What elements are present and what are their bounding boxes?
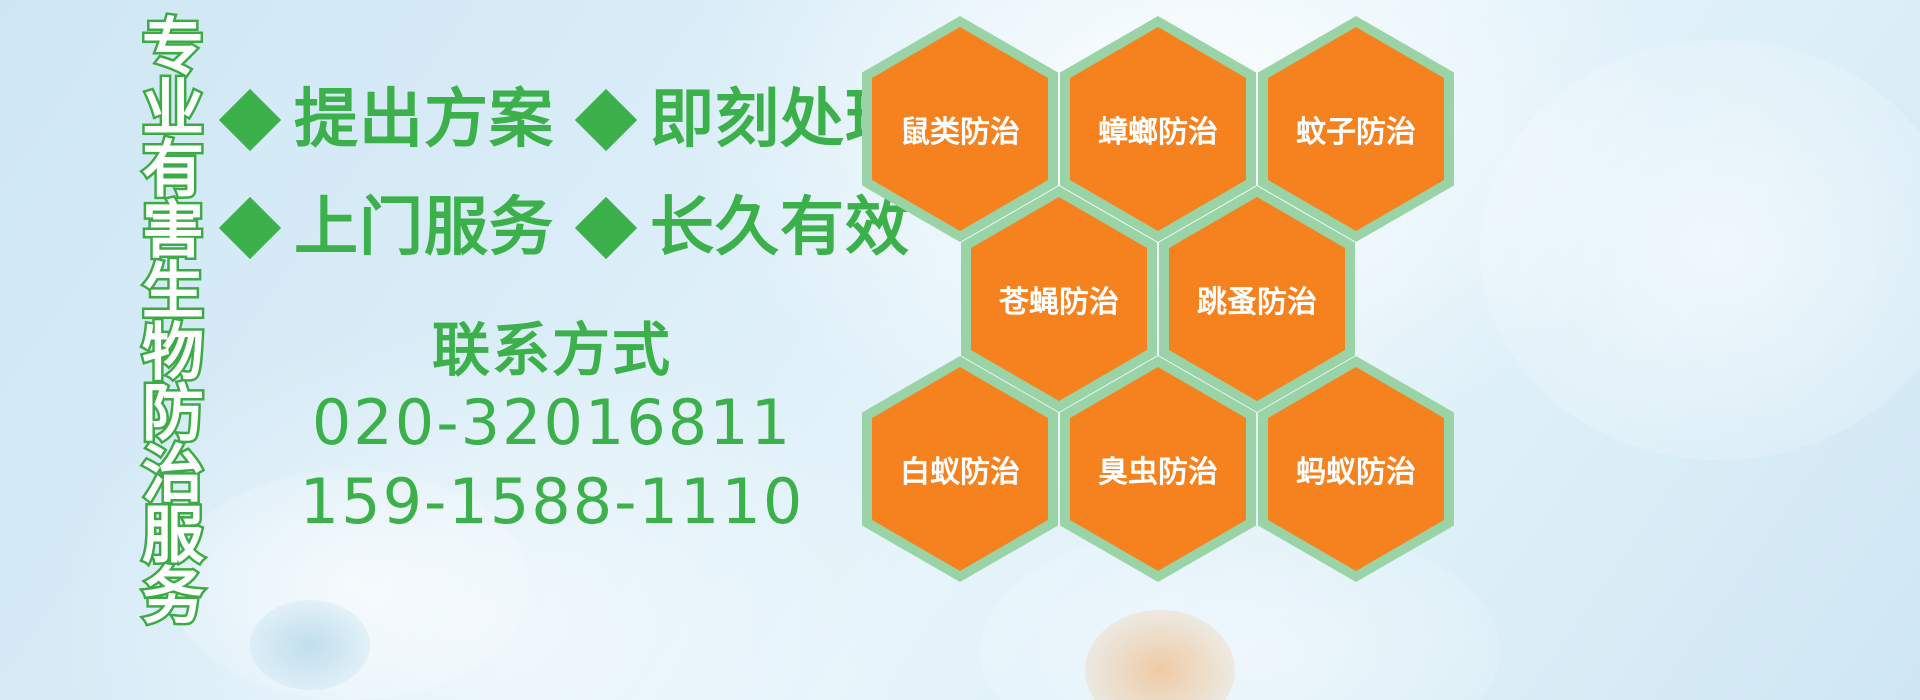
hex-inner: 臭虫防治: [1070, 367, 1246, 571]
feature-label: 上门服务: [294, 196, 554, 260]
service-label: 臭虫防治: [1098, 447, 1218, 491]
service-label: 跳蚤防治: [1197, 277, 1317, 321]
service-label: 蚂蚁防治: [1296, 447, 1416, 491]
feature-row-2: 上门服务 长久有效: [228, 196, 910, 260]
diamond-icon: [575, 89, 637, 151]
diamond-icon: [575, 197, 637, 259]
service-label: 蚊子防治: [1296, 107, 1416, 151]
background-blob: [1480, 40, 1920, 460]
hex-inner: 蚊子防治: [1268, 27, 1444, 231]
hex-inner: 鼠类防治: [872, 27, 1048, 231]
feature-row-1: 提出方案 即刻处理: [228, 88, 910, 152]
hex-inner: 白蚁防治: [872, 367, 1048, 571]
feature-item-propose-plan: 提出方案: [228, 88, 554, 152]
service-label: 白蚁防治: [900, 447, 1020, 491]
diamond-icon: [219, 89, 281, 151]
vertical-headline: 专业有害生物防治服务: [104, 14, 196, 624]
service-label: 鼠类防治: [900, 107, 1020, 151]
contact-title: 联系方式: [236, 318, 868, 383]
feature-item-door-service: 上门服务: [228, 196, 554, 260]
hex-inner: 蚂蚁防治: [1268, 367, 1444, 571]
hex-inner: 跳蚤防治: [1169, 197, 1345, 401]
background-blob: [250, 600, 370, 690]
diamond-icon: [219, 197, 281, 259]
contact-block: 联系方式 020-32016811 159-1588-1110: [236, 318, 868, 542]
hex-inner: 苍蝇防治: [971, 197, 1147, 401]
promo-banner: 专业有害生物防治服务 提出方案 即刻处理 上门服务 长久有效 联系方式 020-…: [0, 0, 1920, 700]
hex-inner: 蟑螂防治: [1070, 27, 1246, 231]
service-label: 蟑螂防治: [1098, 107, 1218, 151]
background-blob: [1085, 610, 1235, 700]
contact-phone-landline[interactable]: 020-32016811: [236, 383, 868, 462]
contact-phone-mobile[interactable]: 159-1588-1110: [236, 462, 868, 541]
service-label: 苍蝇防治: [999, 277, 1119, 321]
feature-label: 提出方案: [294, 88, 554, 152]
service-hexagon-grid: 鼠类防治 蟑螂防治 蚊子防治 苍蝇防治 跳蚤防治 白蚁防治: [862, 8, 1462, 560]
